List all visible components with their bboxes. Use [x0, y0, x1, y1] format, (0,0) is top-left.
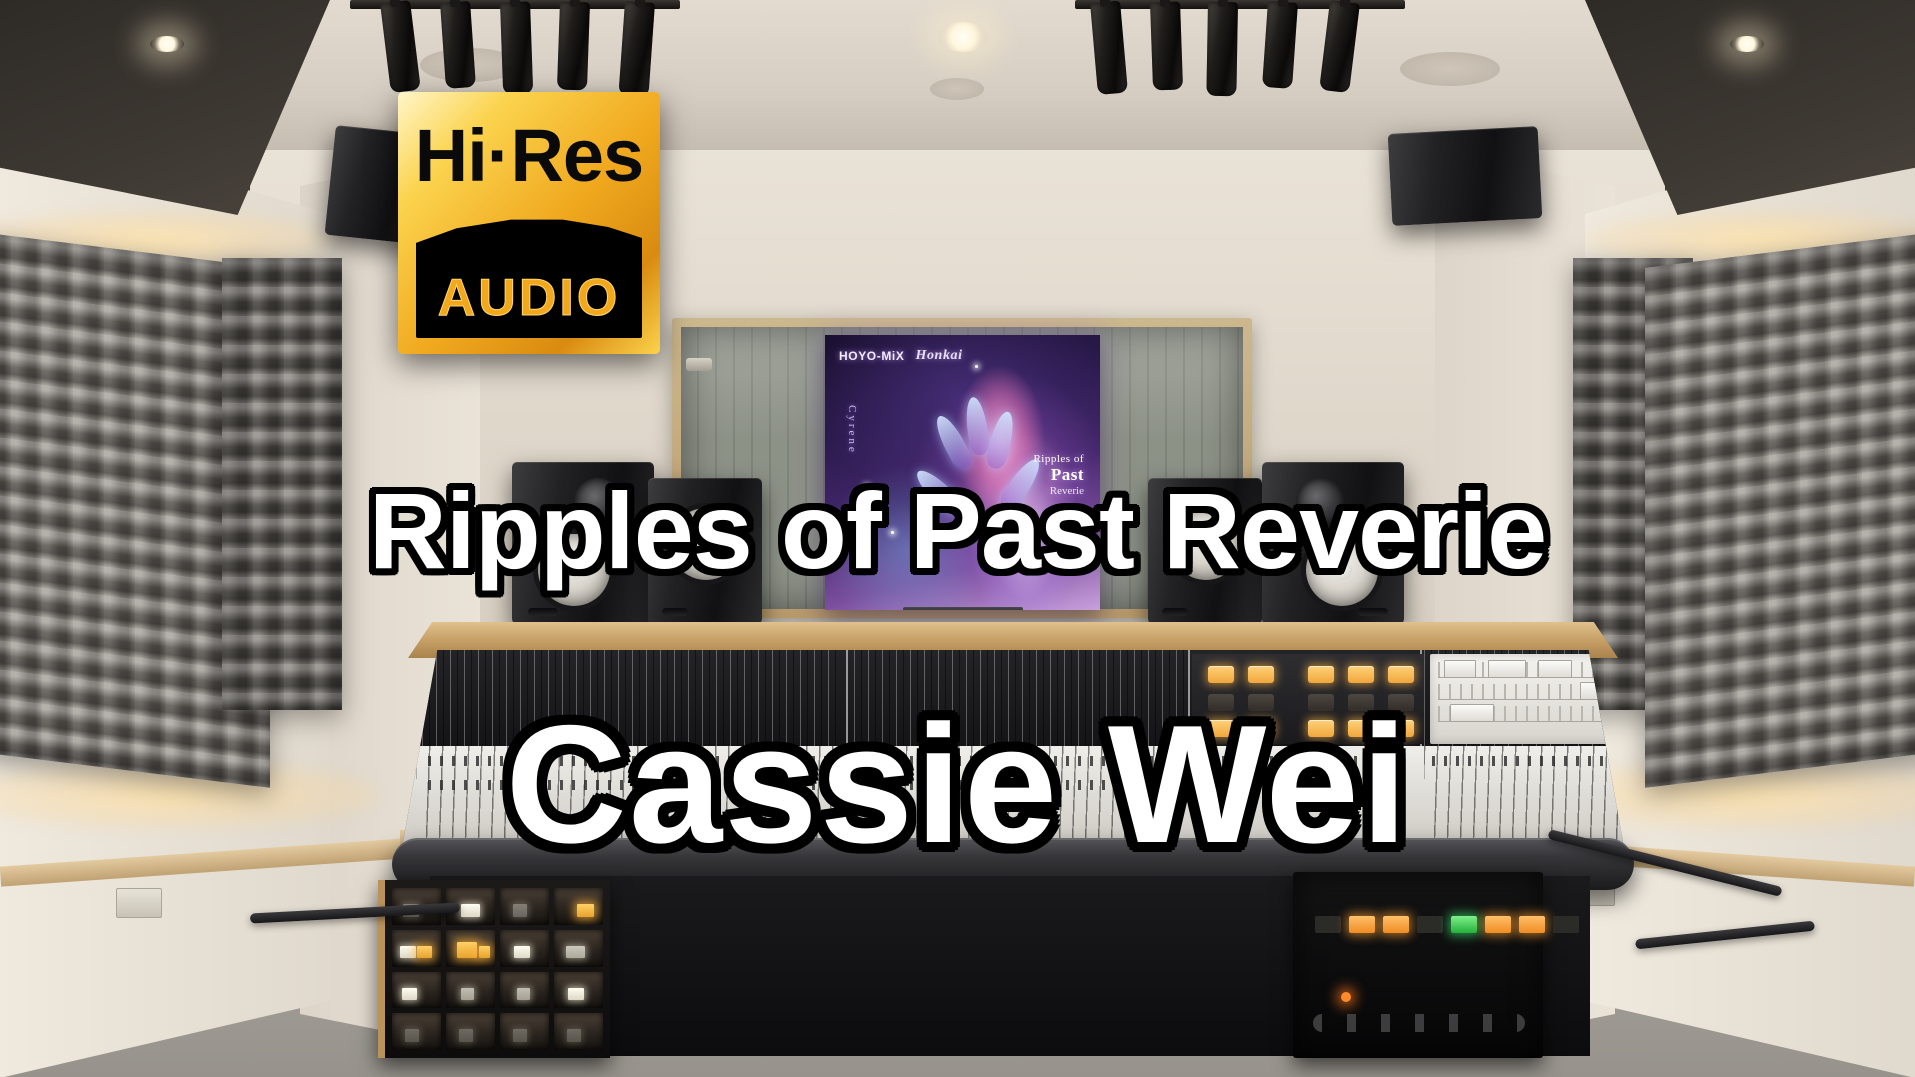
ceiling-spotlight — [557, 1, 590, 90]
album-art-brand: HOYO-MiX Honkai — [839, 348, 963, 364]
console-lamp-on[interactable] — [1348, 666, 1374, 683]
display-stand-bar — [903, 607, 1023, 610]
ceiling-diffuser-right — [1400, 52, 1500, 86]
meter-drawer[interactable] — [446, 1013, 495, 1050]
console-lamp-on[interactable] — [1208, 666, 1234, 683]
ceiling-downlight-left — [150, 36, 184, 52]
ceiling-downlight-center — [938, 22, 988, 52]
outboard-button-off[interactable] — [1315, 916, 1341, 933]
patchbay-block[interactable] — [1538, 660, 1572, 678]
bass-port — [1358, 608, 1388, 616]
meter-drawer[interactable] — [554, 930, 603, 967]
meter-drawer[interactable] — [446, 930, 495, 967]
bass-port — [528, 608, 558, 616]
audio-label: AUDIO — [438, 272, 621, 338]
hi-res-audio-badge: Hi·Res AUDIO — [398, 92, 660, 354]
album-art-sparkle — [975, 365, 978, 368]
ceiling-spotlight — [440, 1, 476, 89]
bass-port — [662, 608, 688, 616]
outboard-button-row[interactable] — [1315, 916, 1579, 933]
outboard-button-on[interactable] — [1519, 916, 1545, 933]
hi-res-badge-bottom: AUDIO — [416, 216, 642, 338]
meter-drawer[interactable] — [500, 972, 549, 1009]
outboard-button-off[interactable] — [1553, 916, 1579, 933]
ceiling-spotlight — [1150, 1, 1183, 90]
patchbay-block[interactable] — [1444, 660, 1476, 678]
hoyomix-label: HOYO-MiX — [839, 349, 904, 363]
honkai-script-label: Honkai — [915, 348, 962, 364]
meter-drawer[interactable] — [554, 888, 603, 925]
ceiling-spotlight — [1262, 1, 1298, 89]
ceiling-spotlight — [500, 1, 533, 94]
hi-res-badge-top: Hi·Res — [398, 92, 660, 220]
patchbay-block[interactable] — [1488, 660, 1526, 678]
ceiling-downlight-right — [1730, 36, 1764, 52]
console-lamp-on[interactable] — [1248, 666, 1274, 683]
meter-drawer[interactable] — [392, 1013, 441, 1050]
outboard-rack[interactable] — [1293, 872, 1543, 1058]
hi-res-label: Hi·Res — [415, 119, 643, 193]
power-led — [1341, 992, 1351, 1002]
outboard-button-on[interactable] — [1485, 916, 1511, 933]
ceiling-spotlight — [1206, 2, 1238, 97]
meter-drawer[interactable] — [446, 972, 495, 1009]
outboard-button-on[interactable] — [1349, 916, 1375, 933]
meter-drawer[interactable] — [392, 930, 441, 967]
meter-drawer[interactable] — [500, 930, 549, 967]
window-handle — [686, 358, 712, 371]
album-art-track-line1: Ripples of — [1033, 453, 1084, 465]
wall-outlet-left — [116, 888, 162, 918]
artist-name-overlay: Cassie Wei — [0, 688, 1915, 881]
meter-drawer[interactable] — [554, 972, 603, 1009]
wall-speaker-right — [1388, 126, 1543, 226]
video-title-overlay: Ripples of Past Reverie — [0, 468, 1915, 593]
outboard-button-green[interactable] — [1451, 916, 1477, 933]
outboard-button-on[interactable] — [1383, 916, 1409, 933]
outboard-button-off[interactable] — [1417, 916, 1443, 933]
console-lamp-on[interactable] — [1308, 666, 1334, 683]
ceiling-diffuser-center — [930, 78, 984, 100]
outboard-knob-row[interactable] — [1313, 1014, 1525, 1032]
meter-drawer[interactable] — [500, 888, 549, 925]
meter-drawer[interactable] — [500, 1013, 549, 1050]
thumbnail-canvas: HOYO-MiX Honkai Cyrene Ripples of Past R… — [0, 0, 1915, 1077]
meter-drawer[interactable] — [392, 972, 441, 1009]
bass-port — [1162, 608, 1188, 616]
meter-drawer[interactable] — [554, 1013, 603, 1050]
console-lamp-on[interactable] — [1388, 666, 1414, 683]
album-art-vertical-text: Cyrene — [843, 405, 860, 455]
